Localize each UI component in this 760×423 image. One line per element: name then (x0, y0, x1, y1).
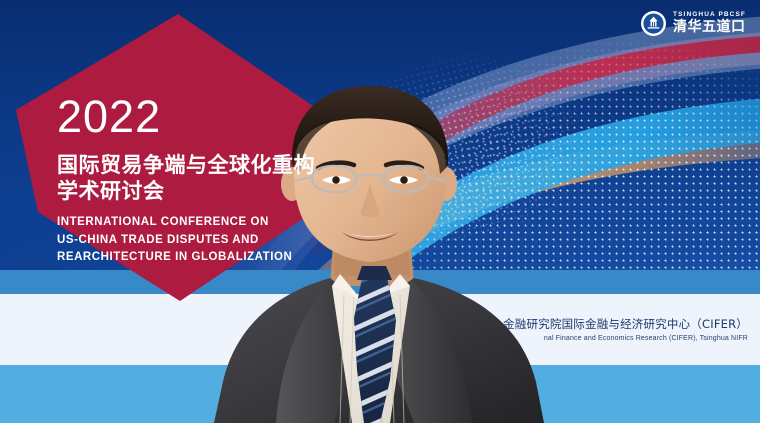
conference-title-cn-line1: 国际贸易争端与全球化重构 (57, 152, 325, 178)
conference-title-en-line1: INTERNATIONAL CONFERENCE ON (57, 214, 325, 232)
conference-poster: 2022 国际贸易争端与全球化重构 学术研讨会 INTERNATIONAL CO… (0, 0, 760, 423)
logo-english-name: TSINGHUA PBCSF (673, 12, 746, 19)
conference-title-cn-line2: 学术研讨会 (57, 178, 325, 204)
conference-title-en-line2: US-CHINA TRADE DISPUTES AND (57, 232, 325, 250)
conference-year: 2022 (57, 92, 325, 142)
logo-chinese-name: 清华五道口 (673, 20, 746, 34)
tsinghua-emblem-icon (641, 11, 666, 36)
logo-wordmark: TSINGHUA PBCSF 清华五道口 (673, 12, 746, 35)
tsinghua-pbcsf-logo: TSINGHUA PBCSF 清华五道口 (641, 9, 746, 37)
conference-title-en-line3: REARCHITECTURE IN GLOBALIZATION (57, 249, 325, 267)
title-block: 2022 国际贸易争端与全球化重构 学术研讨会 INTERNATIONAL CO… (57, 92, 325, 267)
